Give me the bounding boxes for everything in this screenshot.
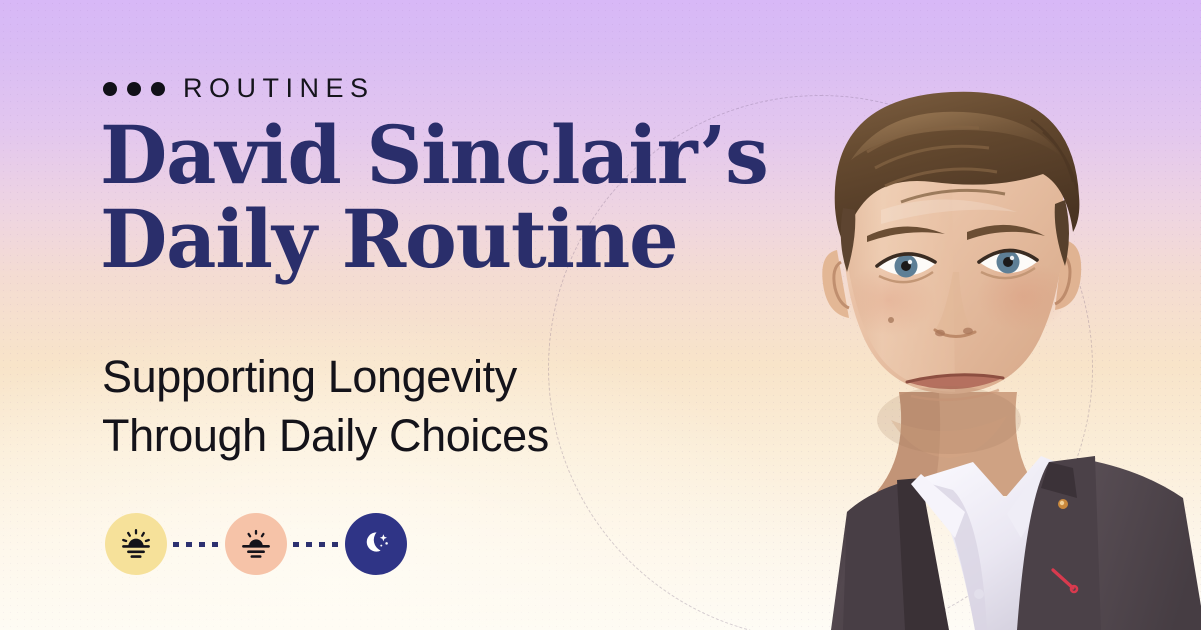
moon-icon: [359, 527, 393, 561]
three-dots-icon: [103, 82, 165, 96]
daily-timeline: [105, 513, 407, 575]
subtitle-line-2: Through Daily Choices: [102, 406, 549, 465]
page-title: David Sinclair’s Daily Routine: [100, 116, 768, 279]
page-subtitle: Supporting Longevity Through Daily Choic…: [102, 347, 549, 466]
sunrise-icon: [118, 526, 154, 562]
sunset-icon: [238, 526, 274, 562]
headline-line-2: Daily Routine: [100, 200, 768, 278]
timeline-connector-2: [293, 542, 339, 547]
timeline-node-afternoon[interactable]: [225, 513, 287, 575]
timeline-node-morning[interactable]: [105, 513, 167, 575]
timeline-node-night[interactable]: [345, 513, 407, 575]
subtitle-line-1: Supporting Longevity: [102, 347, 549, 406]
timeline-connector-1: [173, 542, 219, 547]
content-column: ROUTINES David Sinclair’s Daily Routine …: [100, 0, 740, 630]
portrait-container: [731, 0, 1201, 630]
headline-line-1: David Sinclair’s: [100, 116, 768, 194]
routines-banner: ROUTINES David Sinclair’s Daily Routine …: [0, 0, 1201, 630]
kicker-label: ROUTINES: [183, 75, 375, 102]
avatar: [731, 0, 1201, 630]
kicker: ROUTINES: [103, 75, 375, 102]
